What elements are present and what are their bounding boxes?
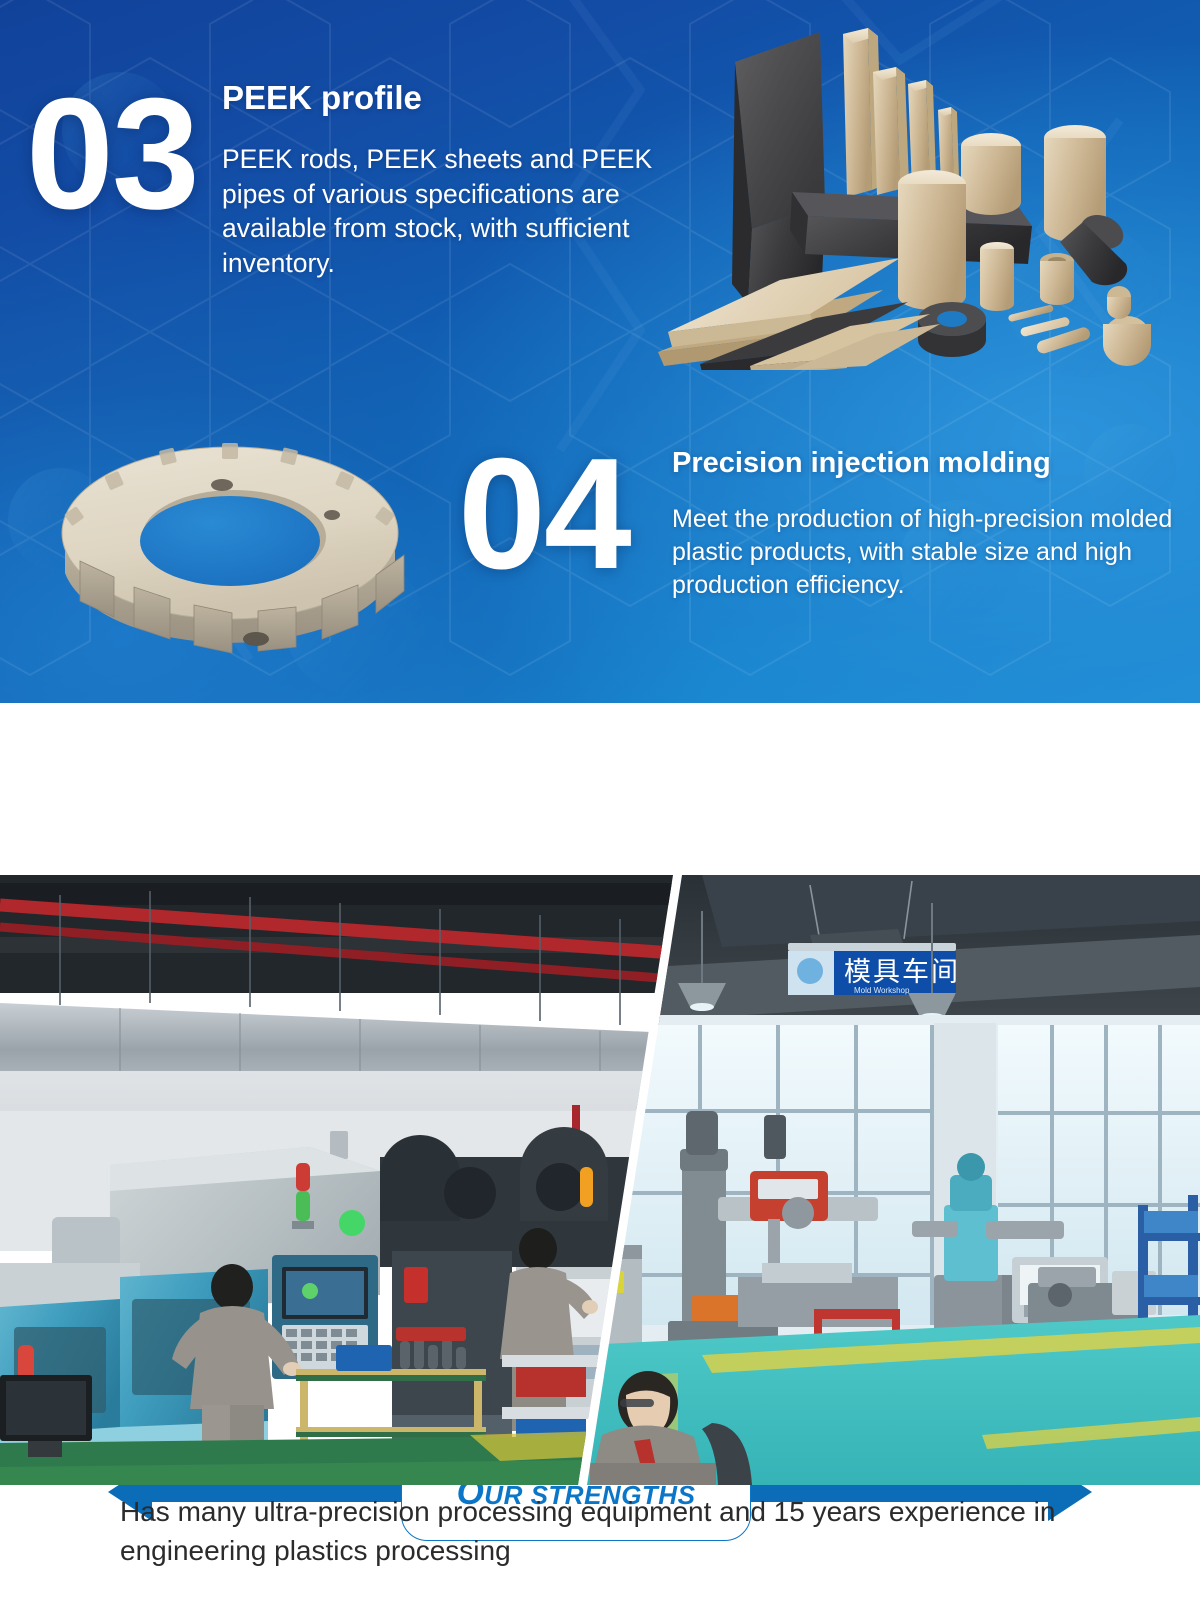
svg-text:模具车间: 模具车间 [844, 957, 960, 988]
strengths-banner: OUR STRENGTHS [0, 703, 1200, 875]
block-title-04: Precision injection molding [672, 448, 1051, 480]
svg-text:Mold Workshop: Mold Workshop [854, 986, 910, 995]
block-number-04: 04 [458, 435, 630, 593]
block-body-04: Meet the production of high-precision mo… [672, 503, 1200, 601]
peek-gear-ring-image [30, 405, 430, 675]
cnc-workshop-photo [0, 875, 673, 1485]
page-caption: Has many ultra-precision processing equi… [120, 1493, 1100, 1570]
block-number-03: 03 [26, 75, 198, 233]
block-title-03: PEEK profile [222, 80, 422, 116]
block-body-03: PEEK rods, PEEK sheets and PEEK pipes of… [222, 142, 662, 281]
peek-profiles-image [640, 14, 1200, 370]
mold-workshop-photo: 模具车间 Mold Workshop [582, 875, 1200, 1485]
photo-band: 模具车间 Mold Workshop [0, 875, 1200, 1485]
hero-section: 03 PEEK profile PEEK rods, PEEK sheets a… [0, 0, 1200, 703]
